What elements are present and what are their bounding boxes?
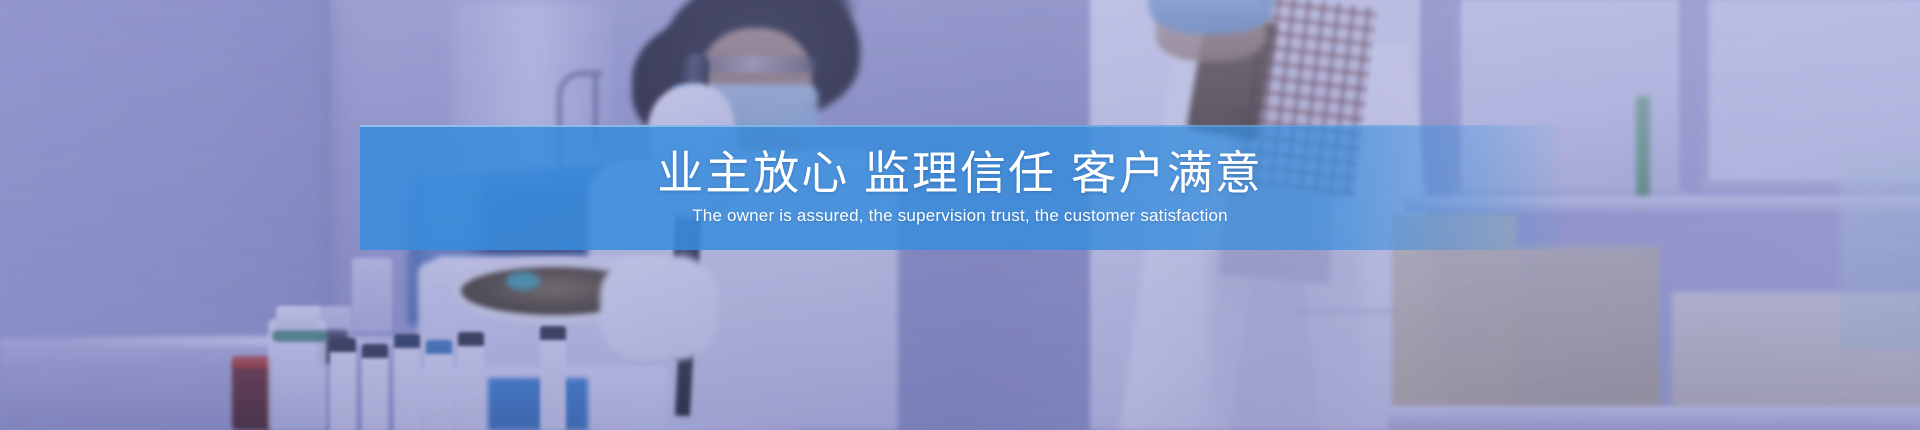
hero-banner: 业主放心 监理信任 客户满意 The owner is assured, the…: [0, 0, 1920, 430]
banner-subheadline: The owner is assured, the supervision tr…: [692, 205, 1228, 227]
banner-headline: 业主放心 监理信任 客户满意: [657, 148, 1263, 199]
caption-content: 业主放心 监理信任 客户满意 The owner is assured, the…: [360, 125, 1560, 250]
